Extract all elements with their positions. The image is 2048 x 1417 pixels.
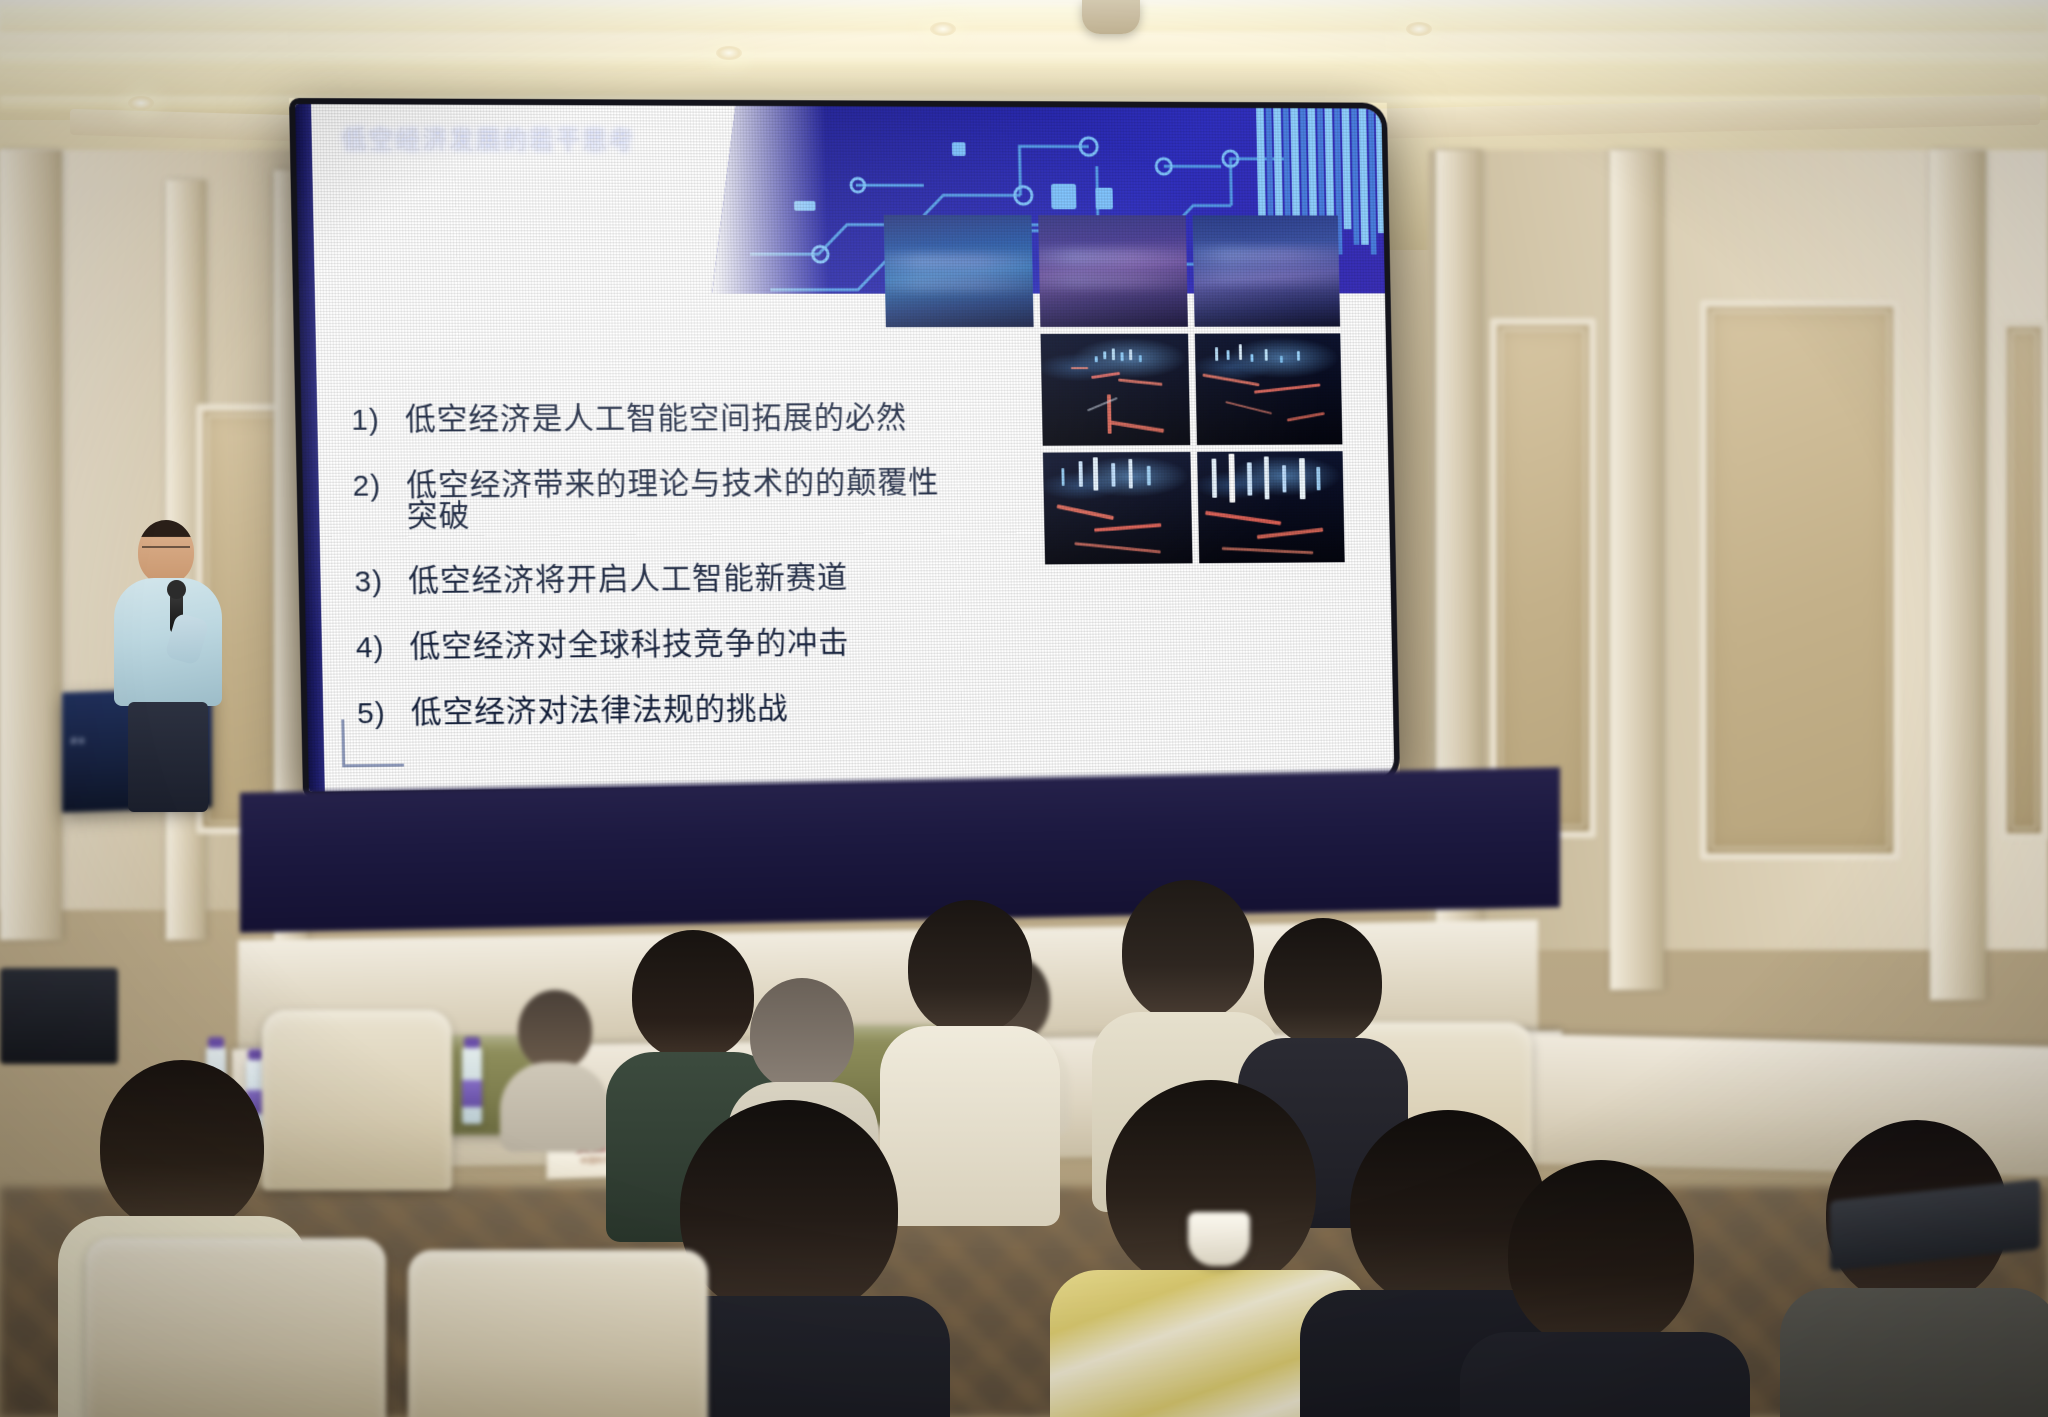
bullet-number: 2) bbox=[352, 471, 406, 501]
bullet-number: 5) bbox=[357, 699, 411, 730]
ceiling-downlight bbox=[1406, 22, 1432, 36]
list-item: 4) 低空经济对全球科技竞争的冲击 bbox=[356, 626, 964, 663]
collage-cell-sky bbox=[884, 215, 1034, 327]
wall-decor-panel bbox=[2000, 320, 2048, 840]
led-screen-bezel: 低空经济发展的若干思考 1) 低空经济是人工智能空间拓展的必然 2) 低空经济带… bbox=[289, 98, 1400, 798]
wall-pilaster bbox=[1930, 150, 1986, 1000]
bullet-number: 3) bbox=[354, 567, 408, 597]
conference-room-scene: 低空经济发展的若干思考 1) 低空经济是人工智能空间拓展的必然 2) 低空经济带… bbox=[0, 0, 2048, 1417]
collage-cell-sky bbox=[1038, 215, 1187, 327]
wall-pilaster bbox=[1610, 150, 1664, 990]
list-item: 5) 低空经济对法律法规的挑战 bbox=[357, 691, 965, 729]
bullet-text: 低空经济将开启人工智能新赛道 bbox=[408, 562, 849, 596]
collage-cell-sky bbox=[1192, 215, 1340, 326]
ceiling-downlight bbox=[930, 22, 956, 36]
wall-decor-panel bbox=[1490, 318, 1596, 838]
presentation-slide: 低空经济发展的若干思考 1) 低空经济是人工智能空间拓展的必然 2) 低空经济带… bbox=[295, 104, 1394, 792]
slide-bullet-list: 1) 低空经济是人工智能空间拓展的必然 2) 低空经济带来的理论与技术的的颠覆性… bbox=[351, 402, 966, 763]
presenter-legs bbox=[128, 702, 208, 812]
collage-cell-city bbox=[1041, 334, 1190, 446]
collage-cell-city bbox=[1194, 333, 1342, 445]
audience-member bbox=[1780, 1120, 2048, 1417]
wall-pilaster bbox=[0, 150, 62, 940]
list-item: 3) 低空经济将开启人工智能新赛道 bbox=[354, 561, 963, 597]
presenter-glasses bbox=[142, 546, 190, 555]
list-item: 2) 低空经济带来的理论与技术的的颠覆性突破 bbox=[352, 467, 961, 532]
led-screen[interactable]: 低空经济发展的若干思考 1) 低空经济是人工智能空间拓展的必然 2) 低空经济带… bbox=[289, 98, 1400, 798]
list-item: 1) 低空经济是人工智能空间拓展的必然 bbox=[351, 402, 960, 436]
bullet-number: 1) bbox=[351, 406, 405, 436]
presenter bbox=[112, 520, 232, 810]
collage-cell-city bbox=[1197, 451, 1345, 563]
podium-label: 讲台 bbox=[70, 736, 86, 747]
chair bbox=[86, 1238, 386, 1417]
ceiling-downlight bbox=[128, 96, 154, 110]
bullet-text: 低空经济对全球科技竞争的冲击 bbox=[409, 627, 850, 662]
chair bbox=[408, 1250, 708, 1417]
bullet-number: 4) bbox=[356, 633, 410, 663]
audience-member bbox=[500, 990, 610, 1140]
audience-member bbox=[1460, 1160, 1750, 1417]
ceiling-downlight bbox=[716, 46, 742, 60]
bullet-text: 低空经济带来的理论与技术的的颠覆性突破 bbox=[406, 467, 961, 532]
collage-cell-city bbox=[1043, 452, 1192, 565]
computer-monitor bbox=[0, 968, 118, 1064]
water-bottle bbox=[462, 1046, 482, 1124]
wall-decor-panel bbox=[1700, 300, 1900, 860]
slide-title: 低空经济发展的若干思考 bbox=[341, 120, 635, 157]
ceiling-speaker bbox=[1082, 0, 1140, 34]
bullet-text: 低空经济对法律法规的挑战 bbox=[411, 693, 789, 728]
teacup bbox=[1188, 1212, 1250, 1266]
bullet-text: 低空经济是人工智能空间拓展的必然 bbox=[405, 402, 908, 435]
